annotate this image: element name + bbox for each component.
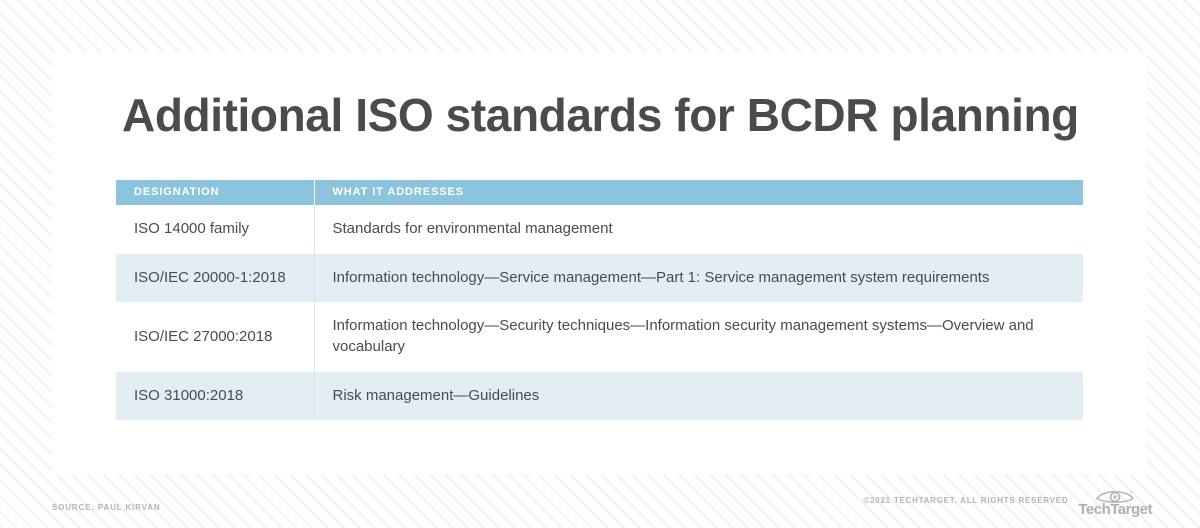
table-body: ISO 14000 family Standards for environme… xyxy=(116,205,1083,420)
footer-right: ©2021 TECHTARGET. ALL RIGHTS RESERVED Te… xyxy=(863,486,1152,517)
cell-addresses: Information technology—Security techniqu… xyxy=(314,302,1083,371)
column-header-what-it-addresses: WHAT IT ADDRESSES xyxy=(314,180,1083,205)
column-header-designation: DESIGNATION xyxy=(116,180,314,205)
table-row: ISO/IEC 20000-1:2018 Information technol… xyxy=(116,254,1083,303)
iso-standards-table: DESIGNATION WHAT IT ADDRESSES ISO 14000 … xyxy=(116,180,1083,420)
cell-designation: ISO/IEC 27000:2018 xyxy=(116,302,314,371)
table-row: ISO 31000:2018 Risk management—Guideline… xyxy=(116,372,1083,421)
cell-designation: ISO 14000 family xyxy=(116,205,314,254)
table-row: ISO 14000 family Standards for environme… xyxy=(116,205,1083,254)
footer-copyright: ©2021 TECHTARGET. ALL RIGHTS RESERVED xyxy=(863,496,1068,507)
cell-designation: ISO 31000:2018 xyxy=(116,372,314,421)
page-title: Additional ISO standards for BCDR planni… xyxy=(122,88,1079,142)
content-card: Additional ISO standards for BCDR planni… xyxy=(52,52,1147,474)
table-row: ISO/IEC 27000:2018 Information technolog… xyxy=(116,302,1083,371)
techtarget-wordmark: TechTarget xyxy=(1078,502,1152,517)
cell-addresses: Information technology—Service managemen… xyxy=(314,254,1083,303)
table-header: DESIGNATION WHAT IT ADDRESSES xyxy=(116,180,1083,205)
footer-source: SOURCE: PAUL KIRVAN xyxy=(52,503,160,512)
cell-addresses: Standards for environmental management xyxy=(314,205,1083,254)
techtarget-logo: TechTarget xyxy=(1078,486,1152,517)
table-header-row: DESIGNATION WHAT IT ADDRESSES xyxy=(116,180,1083,205)
cell-addresses: Risk management—Guidelines xyxy=(314,372,1083,421)
cell-designation: ISO/IEC 20000-1:2018 xyxy=(116,254,314,303)
